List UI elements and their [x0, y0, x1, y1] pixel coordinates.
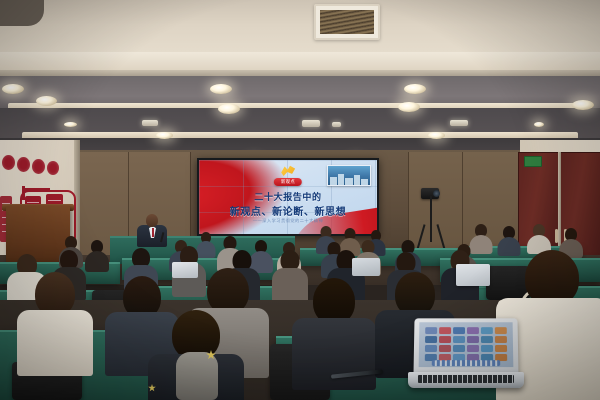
laptop-dock[interactable]: [432, 360, 500, 366]
recessed-downlight: [398, 102, 420, 112]
attendee-laptop: [172, 262, 198, 278]
recessed-downlight: [428, 132, 445, 139]
slide-title-line-1: 二十大报告中的: [199, 190, 377, 203]
attendee: [528, 224, 550, 252]
recessed-downlight: [142, 120, 158, 126]
slide-title-line-2: 新观点、新论断、新思想: [199, 203, 377, 218]
air-conditioning-vent: [314, 4, 380, 40]
recessed-downlight: [36, 96, 57, 106]
recessed-downlight: [404, 84, 426, 94]
attendee-laptop: [352, 258, 380, 276]
culture-wall-badge: [32, 159, 45, 174]
recessed-downlight: [332, 122, 341, 127]
recessed-downlight: [302, 120, 320, 127]
attendee-foreground-right: [512, 250, 592, 400]
recessed-downlight: [572, 100, 594, 110]
laptop-lid: [413, 318, 518, 374]
projection-screen: 新观点 二十大报告中的 新观点、新论断、新思想 ——深入学习贯彻党的二十大精神: [197, 158, 379, 236]
projection-screen-surface: 新观点 二十大报告中的 新观点、新论断、新思想 ——深入学习贯彻党的二十大精神: [199, 160, 377, 234]
recessed-downlight: [534, 122, 544, 127]
camera-lens-icon: [433, 190, 440, 197]
laptop-keyboard[interactable]: [418, 375, 514, 383]
silver-laptop: [408, 318, 524, 396]
culture-wall-badge: [2, 155, 15, 170]
ceiling-corner-shadow: [0, 0, 44, 26]
attendee: [24, 272, 86, 368]
ceiling-upper-plane: [0, 0, 600, 56]
recessed-downlight: [210, 84, 232, 94]
exit-sign: [524, 156, 542, 167]
slide-subtitle: ——深入学习贯彻党的二十大精神: [199, 218, 377, 224]
conference-room-photo: 新观点 二十大报告中的 新观点、新论断、新思想 ——深入学习贯彻党的二十大精神: [0, 0, 600, 400]
laptop-screen[interactable]: [419, 322, 514, 367]
desktop-icon-grid: [425, 327, 507, 357]
speaker-head: [146, 214, 158, 227]
laptop-base: [408, 372, 524, 388]
slide-ribbon-badge: 新观点: [274, 178, 302, 186]
recessed-downlight: [450, 120, 468, 126]
ceiling-band: [0, 52, 600, 72]
recessed-downlight: [218, 104, 240, 114]
attendee: [302, 278, 366, 374]
attendee: [86, 240, 108, 270]
party-emblem-hammer-sickle-icon: [280, 165, 297, 177]
backpack: [176, 352, 218, 400]
slide-building-photo: [327, 165, 371, 186]
tripod-column: [430, 196, 432, 242]
recessed-downlight: [2, 84, 24, 94]
culture-wall-badge: [17, 157, 30, 172]
attendee-laptop: [456, 264, 490, 286]
recessed-downlight: [156, 132, 173, 139]
culture-wall-badge: [47, 161, 59, 175]
vent-louvers-icon: [320, 10, 374, 34]
recessed-downlight: [64, 122, 77, 127]
speaker-tie: [152, 228, 155, 237]
